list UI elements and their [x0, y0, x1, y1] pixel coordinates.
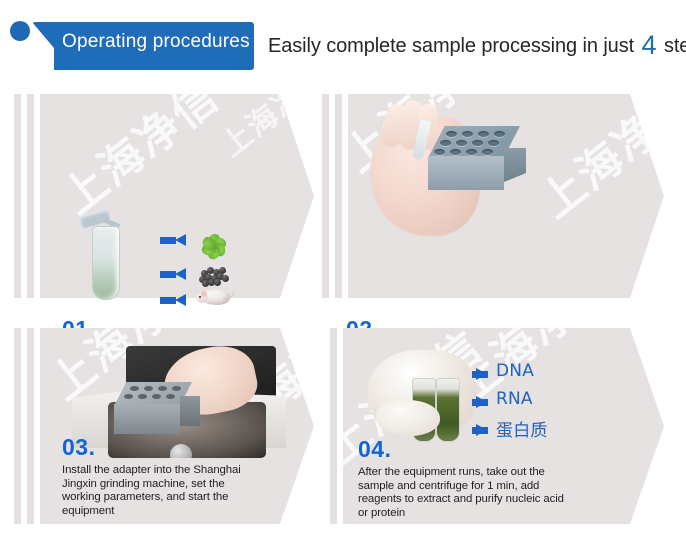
watermark-text: 上海净信: [46, 62, 230, 226]
step-number: 04.: [358, 436, 391, 463]
arrow-left-icon: [160, 294, 186, 306]
step-number: 03.: [62, 434, 95, 461]
step-caption: Install the adapter into the Shanghai Ji…: [62, 464, 262, 518]
card-accent-bar: [14, 94, 21, 298]
arrow-left-icon: [160, 268, 186, 280]
subtitle-before: Easily complete sample processing in jus…: [268, 35, 634, 57]
output-label-dna: DNA: [496, 361, 534, 381]
badge-dot-icon: [10, 21, 30, 41]
centrifuge-tube-icon: [92, 226, 120, 300]
card-accent-bar: [14, 328, 21, 524]
step-card-04[interactable]: 上海净信 上海净信 DNA RNA 蛋白质 04. After the equi…: [330, 328, 664, 524]
badge-label: Operating procedures: [62, 31, 250, 53]
card-accent-bar: [27, 94, 34, 298]
step-card-01[interactable]: 上海净信 上海净信 01. Put the sample and grindin…: [14, 94, 314, 298]
output-label-protein: 蛋白质: [496, 416, 548, 441]
arrow-right-icon: [462, 396, 488, 408]
card-accent-bar: [335, 94, 342, 298]
mouse-sample-icon: [196, 286, 232, 308]
card-accent-bar: [27, 328, 34, 524]
subtitle-after: steps:: [664, 35, 686, 57]
step-card-02[interactable]: 上海净信 上海净信 02. Put the centrifuge tube or…: [322, 94, 664, 298]
subtitle-step-count: 4: [640, 30, 659, 60]
adapter-photo: [350, 98, 570, 248]
card-accent-bar: [330, 328, 337, 524]
output-label-rna: RNA: [496, 389, 533, 409]
leaf-sample-icon: [198, 226, 228, 254]
step-card-03[interactable]: 上海净信 上海净信 03. Install the adapter into t…: [14, 328, 314, 524]
header-subtitle: Easily complete sample processing in jus…: [268, 30, 686, 61]
page-header: Operating procedures Easily complete sam…: [0, 0, 686, 86]
arrow-left-icon: [160, 234, 186, 246]
arrow-right-icon: [462, 368, 488, 380]
arrow-right-icon: [462, 424, 488, 436]
grinding-machine-photo: [72, 340, 288, 458]
card-accent-bar: [322, 94, 329, 298]
step-caption: After the equipment runs, take out the s…: [358, 466, 576, 520]
grinding-beads-icon: [199, 264, 229, 284]
